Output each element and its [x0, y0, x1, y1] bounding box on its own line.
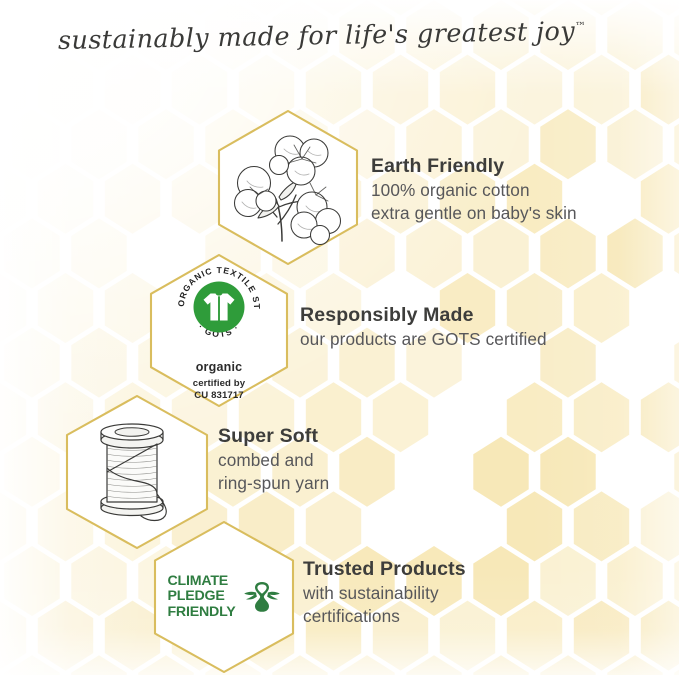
climate-pledge-line3: FRIENDLY: [167, 605, 235, 620]
hexagon-card-trusted-products: CLIMATE PLEDGE FRIENDLY: [149, 519, 299, 675]
feature-text-earth-friendly: Earth Friendly 100% organic cotton extra…: [371, 155, 577, 225]
feature-line: 100% organic cotton: [371, 179, 577, 202]
feature-text-super-soft: Super Soft combed and ring-spun yarn: [218, 425, 329, 495]
climate-pledge-line1: CLIMATE: [167, 574, 235, 589]
gots-label: organic: [171, 360, 267, 374]
feature-title: Earth Friendly: [371, 155, 577, 179]
gots-certified-by-label: certified by: [171, 378, 267, 390]
hexagon-card-responsibly-made: GLOBAL ORGANIC TEXTILE STANDARD · GOTS ·…: [145, 252, 293, 409]
feature-text-responsibly-made: Responsibly Made our products are GOTS c…: [300, 304, 547, 351]
feature-text-trusted-products: Trusted Products with sustainability cer…: [303, 558, 466, 628]
gots-seal-icon: GLOBAL ORGANIC TEXTILE STANDARD · GOTS ·: [171, 260, 267, 356]
feature-line: with sustainability: [303, 582, 466, 605]
feature-title: Trusted Products: [303, 558, 466, 582]
climate-pledge-friendly-icon: CLIMATE PLEDGE FRIENDLY: [167, 574, 280, 619]
feature-line: ring-spun yarn: [218, 472, 329, 495]
thread-spool-sketch-icon: [83, 416, 191, 528]
feature-title: Responsibly Made: [300, 304, 547, 328]
winged-hourglass-icon: [243, 579, 281, 615]
cotton-plant-sketch-icon: [232, 129, 344, 247]
feature-line: certifications: [303, 605, 466, 628]
feature-title: Super Soft: [218, 425, 329, 449]
gots-organic-certification-icon: GLOBAL ORGANIC TEXTILE STANDARD · GOTS ·…: [171, 260, 267, 401]
hexagon-card-earth-friendly: [213, 108, 363, 267]
feature-line: combed and: [218, 449, 329, 472]
product-feature-infographic: sustainably made for life's greatest joy…: [0, 0, 679, 675]
feature-line: extra gentle on baby's skin: [371, 202, 577, 225]
climate-pledge-line2: PLEDGE: [167, 589, 235, 604]
feature-line: our products are GOTS certified: [300, 328, 547, 351]
trademark-icon: ™: [575, 20, 586, 33]
